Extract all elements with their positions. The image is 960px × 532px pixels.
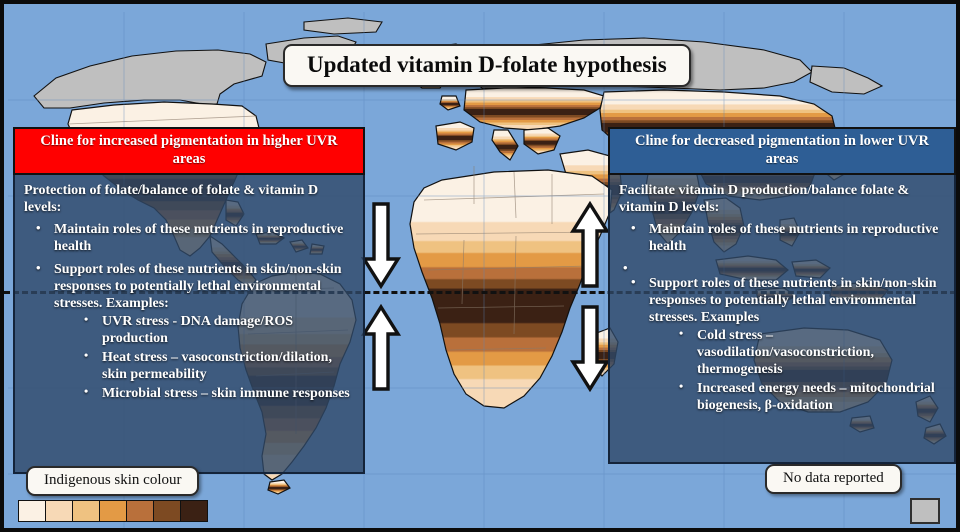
right-panel-body: Facilitate vitamin D production/balance … bbox=[608, 175, 956, 464]
swatch-5 bbox=[127, 501, 154, 521]
sub-bullet-text: Increased energy needs – mitochondrial b… bbox=[697, 381, 935, 413]
swatch-1 bbox=[19, 501, 46, 521]
page-title: Updated vitamin D-folate hypothesis bbox=[283, 44, 691, 87]
left-panel-lede: Protection of folate/balance of folate &… bbox=[24, 182, 354, 216]
left-panel-header: Cline for increased pigmentation in high… bbox=[13, 127, 365, 175]
swatch-4 bbox=[100, 501, 127, 521]
bullet-text: Maintain roles of these nutrients in rep… bbox=[649, 222, 938, 254]
right-panel-header: Cline for decreased pigmentation in lowe… bbox=[608, 127, 956, 175]
bullet-text: Maintain roles of these nutrients in rep… bbox=[54, 222, 343, 254]
sub-bullet-text: Heat stress – vasoconstriction/dilation,… bbox=[102, 350, 332, 382]
list-item: Maintain roles of these nutrients in rep… bbox=[32, 221, 354, 255]
list-item: Increased energy needs – mitochondrial b… bbox=[675, 380, 945, 414]
figure-canvas: Updated vitamin D-folate hypothesis Clin… bbox=[0, 0, 960, 532]
right-cline-panel: Cline for decreased pigmentation in lowe… bbox=[608, 127, 956, 464]
arrow-right-down bbox=[570, 304, 610, 392]
arrow-left-down bbox=[361, 201, 401, 289]
left-panel-bullets: Maintain roles of these nutrients in rep… bbox=[24, 221, 354, 403]
left-panel-subbullets: UVR stress - DNA damage/ROS production H… bbox=[54, 313, 354, 402]
list-item: Support roles of these nutrients in skin… bbox=[627, 275, 945, 415]
list-item: Cold stress – vasodilation/vasoconstrict… bbox=[675, 327, 945, 378]
skin-colour-legend-label: Indigenous skin colour bbox=[26, 466, 199, 496]
swatch-3 bbox=[73, 501, 100, 521]
list-item: Heat stress – vasoconstriction/dilation,… bbox=[80, 349, 354, 383]
spacer bbox=[619, 261, 945, 271]
bullet-text: Support roles of these nutrients in skin… bbox=[649, 276, 937, 325]
list-item: Microbial stress – skin immune responses bbox=[80, 385, 354, 402]
skin-colour-legend-swatches bbox=[18, 500, 208, 522]
list-item: Maintain roles of these nutrients in rep… bbox=[627, 221, 945, 255]
no-data-legend-label: No data reported bbox=[765, 464, 902, 494]
right-panel-lede: Facilitate vitamin D production/balance … bbox=[619, 182, 945, 216]
list-item: UVR stress - DNA damage/ROS production bbox=[80, 313, 354, 347]
bullet-text: Support roles of these nutrients in skin… bbox=[54, 262, 342, 311]
sub-bullet-text: UVR stress - DNA damage/ROS production bbox=[102, 314, 293, 346]
right-panel-bullets: Maintain roles of these nutrients in rep… bbox=[619, 221, 945, 415]
sub-bullet-text: Cold stress – vasodilation/vasoconstrict… bbox=[697, 328, 874, 377]
list-item: Support roles of these nutrients in skin… bbox=[32, 261, 354, 403]
arrow-right-up bbox=[570, 201, 610, 289]
swatch-2 bbox=[46, 501, 73, 521]
arrow-left-up bbox=[361, 304, 401, 392]
no-data-legend-swatch bbox=[910, 498, 940, 524]
swatch-6 bbox=[154, 501, 181, 521]
left-panel-body: Protection of folate/balance of folate &… bbox=[13, 175, 365, 474]
swatch-7 bbox=[181, 501, 207, 521]
right-panel-subbullets: Cold stress – vasodilation/vasoconstrict… bbox=[649, 327, 945, 414]
left-cline-panel: Cline for increased pigmentation in high… bbox=[13, 127, 365, 474]
sub-bullet-text: Microbial stress – skin immune responses bbox=[102, 386, 350, 401]
